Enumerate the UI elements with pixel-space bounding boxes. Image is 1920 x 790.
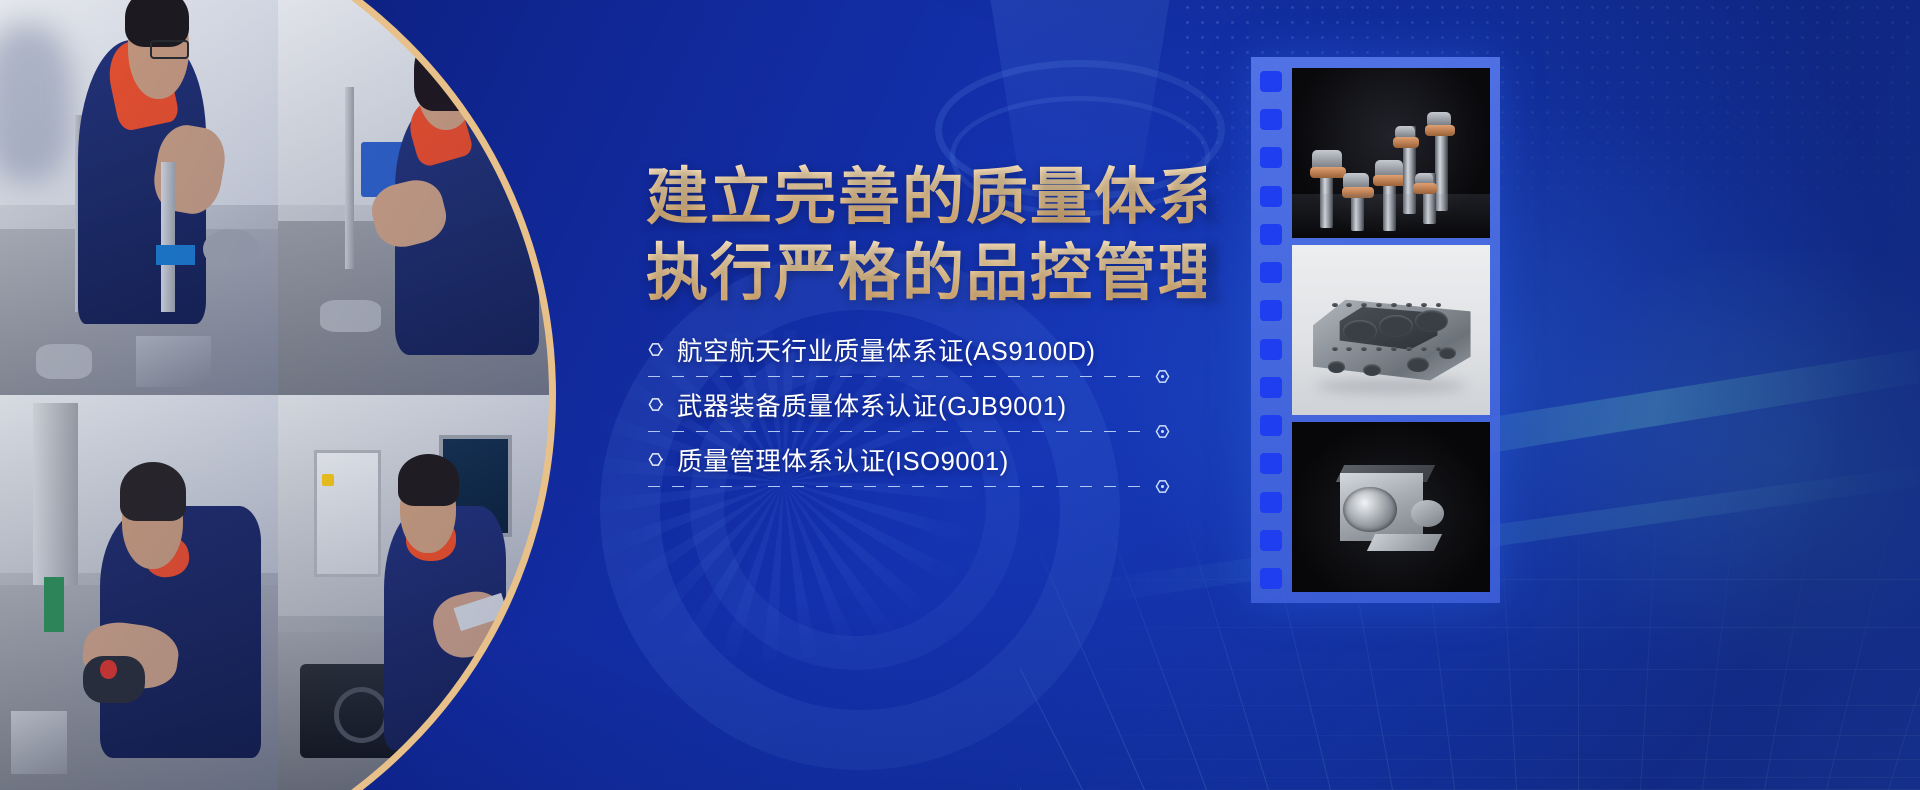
quality-system-banner: 建立完善的质量体系 执行严格的品控管理 航空航天行业质量体系证(AS9100D) (0, 0, 1920, 790)
hexagon-bullet-icon (648, 342, 663, 357)
certification-item-2: 武器装备质量体系认证(GJB9001) (648, 377, 1188, 431)
product-frame-3 (1292, 422, 1490, 592)
product-frame-1 (1292, 68, 1490, 238)
hexagon-bullet-icon (648, 452, 663, 467)
product-frame-2 (1292, 245, 1490, 415)
hexagon-bullet-icon (648, 397, 663, 412)
gold-arc-divider (0, 0, 620, 790)
certification-label: 航空航天行业质量体系证(AS9100D) (677, 331, 1096, 368)
headline-line-1: 建立完善的质量体系 (646, 160, 1206, 236)
certification-list: 航空航天行业质量体系证(AS9100D) 武器装备质量体系认证(GJB9001) (648, 322, 1188, 487)
certification-item-3: 质量管理体系认证(ISO9001) (648, 432, 1188, 486)
certification-separator-3 (648, 486, 1148, 487)
headline-line-2: 执行严格的品控管理 (646, 236, 1206, 312)
page-title: 建立完善的质量体系 执行严格的品控管理 (646, 160, 1206, 311)
certification-label: 质量管理体系认证(ISO9001) (677, 441, 1009, 478)
certification-item-1: 航空航天行业质量体系证(AS9100D) (648, 322, 1188, 376)
product-film-strip (1251, 57, 1500, 603)
film-perforations (1260, 71, 1282, 589)
certification-label: 武器装备质量体系认证(GJB9001) (677, 386, 1067, 423)
hexagon-endpoint-icon (1155, 479, 1170, 494)
